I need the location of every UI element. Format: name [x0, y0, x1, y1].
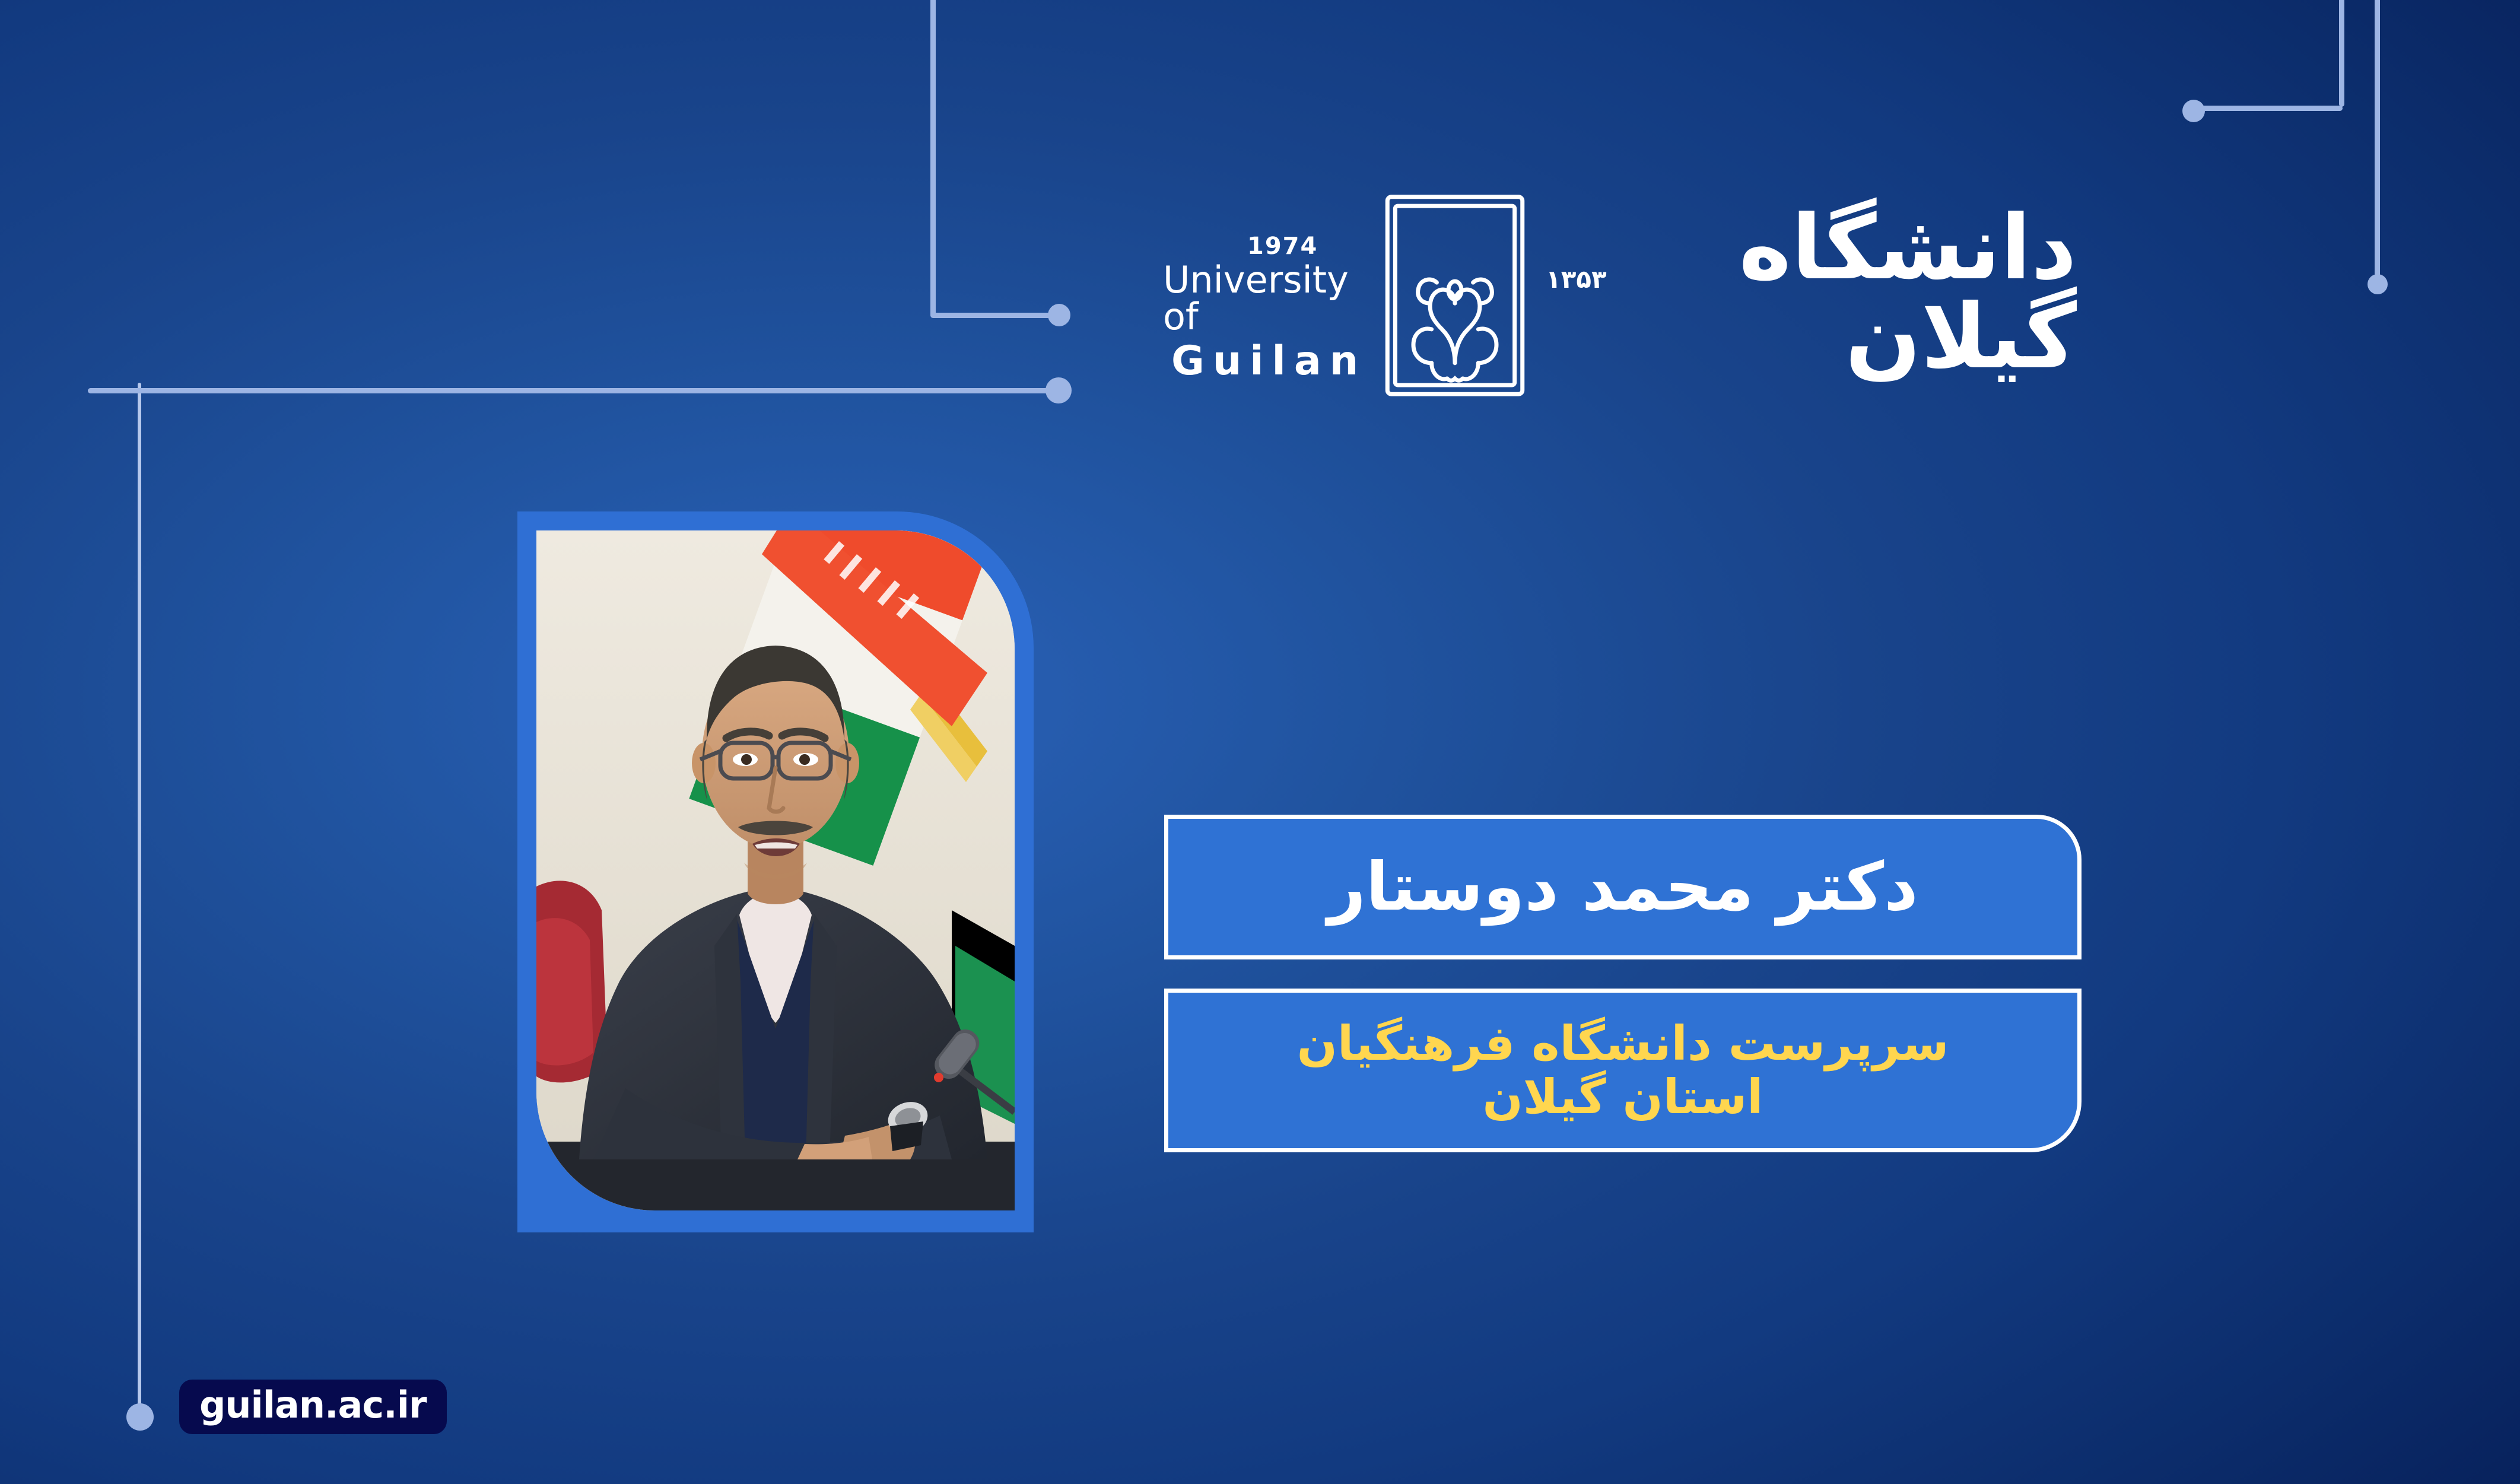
- deco-dot-far-right: [2368, 274, 2388, 294]
- person-name: دکتر محمد دوستار: [1327, 849, 1918, 926]
- deco-horizontal-upper: [930, 313, 1066, 318]
- deco-dot-right-corner: [2182, 100, 2205, 122]
- deco-dot-upper: [1048, 304, 1070, 326]
- logo-persian-text: دانشگاه گیلان ۱۳۵۳: [1540, 212, 2077, 382]
- logo-name-persian: دانشگاه گیلان: [1615, 204, 2077, 382]
- deco-horizontal-lower: [88, 388, 1061, 393]
- website-url-badge[interactable]: guilan.ac.ir: [179, 1380, 447, 1434]
- logo-year-gregorian: 1974: [1247, 234, 1367, 258]
- name-banner: دکتر محمد دوستار: [1164, 815, 2082, 959]
- title-line-2: استان گیلان: [1482, 1070, 1763, 1124]
- deco-dot-left-bottom: [126, 1403, 154, 1431]
- title-line-1: سرپرست دانشگاه فرهنگیان: [1297, 1017, 1949, 1070]
- logo-year-persian: ۱۳۵۳: [1546, 265, 1607, 294]
- logo-english-text: 1974 University of Guilan: [1163, 234, 1367, 382]
- portrait-photo: [536, 530, 1015, 1210]
- deco-vertical-right-corner: [2339, 0, 2344, 107]
- deco-horizontal-right-corner: [2189, 106, 2343, 111]
- deco-vertical-top-center: [930, 0, 936, 317]
- deco-vertical-far-right: [2375, 0, 2380, 279]
- guilan-emblem-icon: [1375, 192, 1535, 402]
- logo-line-university-of: University of: [1163, 262, 1367, 335]
- title-banner: سرپرست دانشگاه فرهنگیان استان گیلان: [1164, 989, 2082, 1152]
- banner-canvas: 1974 University of Guilan دانشگاه گیلا: [0, 0, 2520, 1484]
- deco-vertical-left: [138, 383, 141, 1421]
- portrait-frame: [517, 511, 1034, 1232]
- deco-dot-lower: [1046, 377, 1072, 403]
- university-logo: 1974 University of Guilan دانشگاه گیلا: [1163, 178, 2077, 415]
- portrait-illustration: [536, 530, 1015, 1210]
- logo-line-guilan: Guilan: [1171, 341, 1367, 382]
